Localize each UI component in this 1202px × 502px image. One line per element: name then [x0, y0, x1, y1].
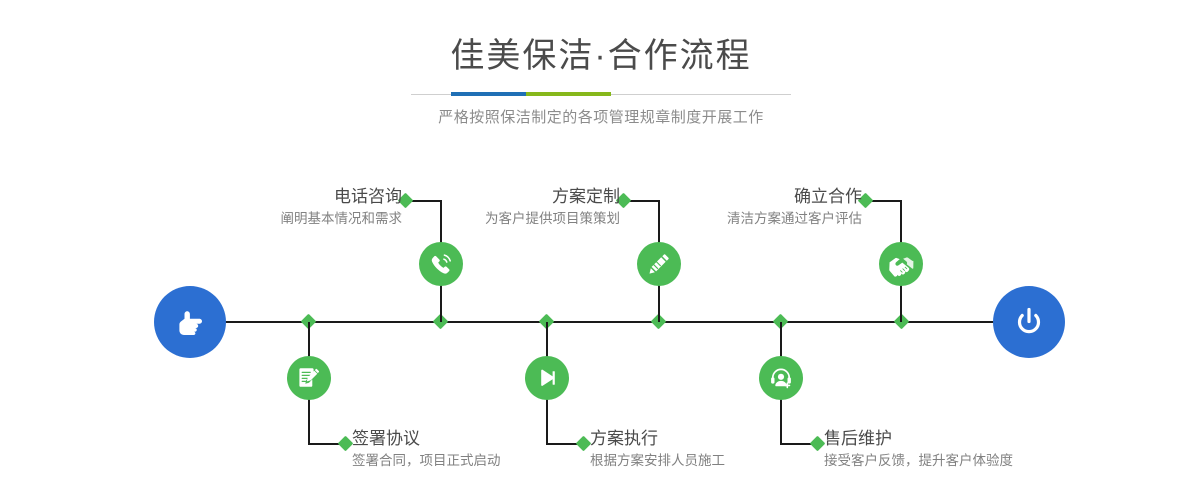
phone-call-icon: [428, 251, 454, 277]
step-desc: 清洁方案通过客户评估: [727, 208, 862, 230]
support-headset-icon: [768, 365, 794, 391]
branch-marker-bottom-1: [338, 436, 354, 452]
play-next-icon: [534, 365, 560, 391]
pencil-edit-icon: [646, 251, 672, 277]
step-icon-top-2: [637, 242, 681, 286]
power-icon: [1009, 302, 1049, 342]
step-label-bottom-3: 售后维护 接受客户反馈，提升客户体验度: [824, 428, 1013, 472]
pointing-hand-icon: [170, 302, 210, 342]
step-desc: 阐明基本情况和需求: [281, 208, 403, 230]
step-desc: 签署合同，项目正式启动: [352, 450, 501, 472]
step-icon-bottom-2: [525, 356, 569, 400]
process-timeline: 电话咨询 阐明基本情况和需求 方案定制 为客户提供项目策策划: [0, 0, 1202, 502]
step-label-top-1: 电话咨询 阐明基本情况和需求: [281, 186, 403, 230]
step-title: 售后维护: [824, 428, 1013, 450]
step-title: 方案定制: [485, 186, 620, 208]
step-title: 确立合作: [727, 186, 862, 208]
cooperation-process-infographic: 佳美保洁·合作流程 严格按照保洁制定的各项管理规章制度开展工作: [0, 0, 1202, 502]
step-title: 签署协议: [352, 428, 501, 450]
handshake-icon: [888, 251, 915, 278]
step-desc: 为客户提供项目策策划: [485, 208, 620, 230]
timeline-axis: [155, 321, 1050, 323]
timeline-end-node: [993, 286, 1065, 358]
step-label-bottom-2: 方案执行 根据方案安排人员施工: [590, 428, 725, 472]
step-desc: 根据方案安排人员施工: [590, 450, 725, 472]
branch-marker-bottom-2: [576, 436, 592, 452]
step-icon-top-1: [419, 242, 463, 286]
step-label-top-3: 确立合作 清洁方案通过客户评估: [727, 186, 862, 230]
step-icon-top-3: [879, 242, 923, 286]
step-icon-bottom-3: [759, 356, 803, 400]
step-title: 电话咨询: [281, 186, 403, 208]
timeline-start-node: [154, 286, 226, 358]
branch-marker-bottom-3: [810, 436, 826, 452]
step-desc: 接受客户反馈，提升客户体验度: [824, 450, 1013, 472]
step-title: 方案执行: [590, 428, 725, 450]
document-sign-icon: [296, 365, 322, 391]
step-icon-bottom-1: [287, 356, 331, 400]
step-label-top-2: 方案定制 为客户提供项目策策划: [485, 186, 620, 230]
step-label-bottom-1: 签署协议 签署合同，项目正式启动: [352, 428, 501, 472]
